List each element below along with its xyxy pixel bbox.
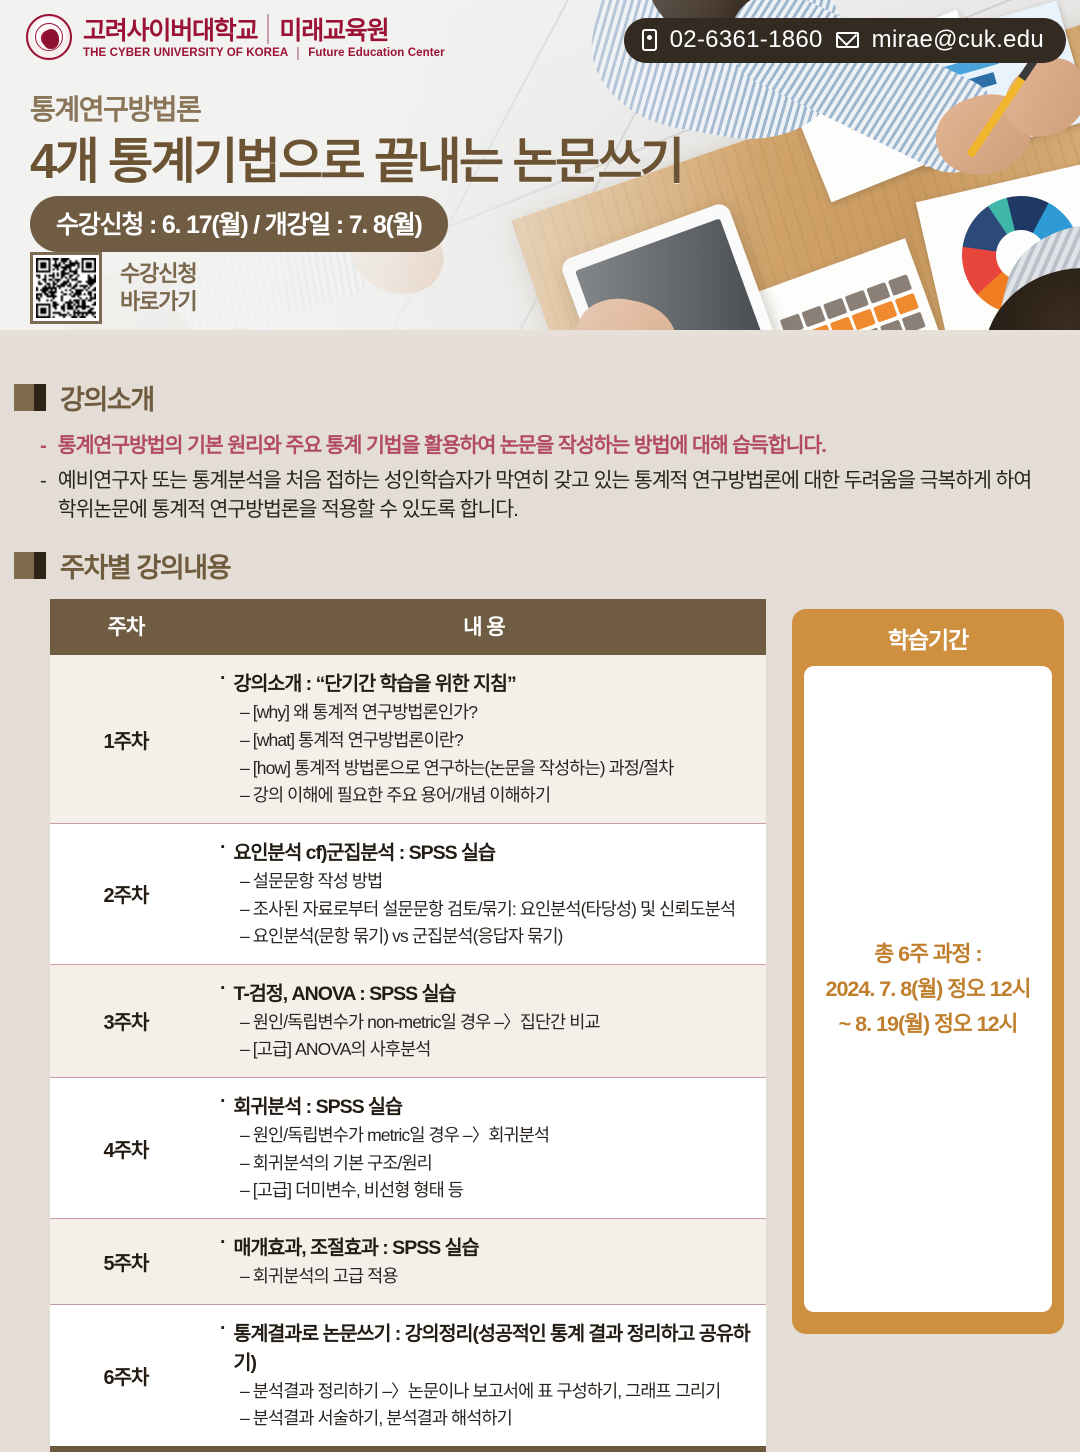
study-period-box: 총 6주 과정 : 2024. 7. 8(월) 정오 12시 ~ 8. 19(월… <box>804 666 1052 1312</box>
topic-title: ·회귀분석 : SPSS 실습 <box>220 1090 756 1119</box>
intro-item: - 예비연구자 또는 통계분석을 처음 접하는 성인학습자가 막연히 갖고 있는… <box>40 466 1050 524</box>
topic-subitem: – 회귀분석의 고급 적용 <box>220 1263 756 1291</box>
bullet-dot-icon: · <box>220 977 226 1006</box>
study-period-line: 2024. 7. 8(월) 정오 12시 <box>826 972 1031 1007</box>
table-row: 3주차·T-검정, ANOVA : SPSS 실습– 원인/독립변수가 non-… <box>50 964 766 1077</box>
study-period-line: ~ 8. 19(월) 정오 12시 <box>826 1007 1031 1042</box>
qr-code-icon[interactable] <box>30 252 102 324</box>
topic-subitem: – 설문문항 작성 방법 <box>220 868 756 896</box>
topic-subitem: – 요인분석(문항 묶기) vs 군집분석(응답자 묶기) <box>220 923 756 951</box>
cell-week: 1주차 <box>50 655 202 823</box>
brand-center-en: Future Education Center <box>308 48 444 60</box>
section-title-curriculum: 주차별 강의내용 <box>60 546 230 585</box>
qr-label-line1: 수강신청 <box>120 260 197 288</box>
intro-list: - 통계연구방법의 기본 원리와 주요 통계 기법을 활용하여 논문을 작성하는… <box>40 431 1050 524</box>
topic-subitem: – 분석결과 정리하기 –〉논문이나 보고서에 표 구성하기, 그래프 그리기 <box>220 1378 756 1406</box>
topic-title: ·T-검정, ANOVA : SPSS 실습 <box>220 977 756 1006</box>
cell-content: ·요인분석 cf)군집분석 : SPSS 실습– 설문문항 작성 방법– 조사된… <box>202 823 766 964</box>
study-period-title: 학습기간 <box>804 609 1052 666</box>
column-header-content: 내 용 <box>202 599 766 655</box>
topic-subitem: – [고급] ANOVA의 사후분석 <box>220 1036 756 1064</box>
cell-content: ·통계결과로 논문쓰기 : 강의정리(성공적인 통계 결과 정리하고 공유하기)… <box>202 1304 766 1449</box>
curriculum-area: 주차 내 용 1주차·강의소개 : “단기간 학습을 위한 지침”– [why]… <box>0 599 1080 1452</box>
topic-subitem: – [why] 왜 통계적 연구방법론인가? <box>220 699 756 727</box>
topic-title: ·강의소개 : “단기간 학습을 위한 지침” <box>220 667 756 696</box>
topic-subitem: – 원인/독립변수가 non-metric일 경우 –〉집단간 비교 <box>220 1009 756 1037</box>
contact-bar: 02-6361-1860 mirae@cuk.edu <box>624 18 1066 63</box>
brand-logo: 고려사이버대학교 미래교육원 THE CYBER UNIVERSITY OF K… <box>26 14 445 60</box>
topic-text: 회귀분석 : SPSS 실습 <box>234 1090 402 1119</box>
column-header-week: 주차 <box>50 599 202 655</box>
section-title-intro: 강의소개 <box>60 378 154 417</box>
intro-item-text: 통계연구방법의 기본 원리와 주요 통계 기법을 활용하여 논문을 작성하는 방… <box>58 431 826 460</box>
bullet-dot-icon: · <box>220 1090 226 1119</box>
hero-bottom-fade <box>0 330 1080 356</box>
topic-subitem: – 조사된 자료로부터 설문문항 검토/묶기: 요인분석(타당성) 및 신뢰도분… <box>220 896 756 924</box>
mail-icon <box>836 32 859 48</box>
cell-week: 3주차 <box>50 964 202 1077</box>
topic-subitem: – [what] 통계적 연구방법론이란? <box>220 727 756 755</box>
bullet-dot-icon: · <box>220 667 226 696</box>
cell-content: ·강의소개 : “단기간 학습을 위한 지침”– [why] 왜 통계적 연구방… <box>202 655 766 823</box>
cell-content: ·회귀분석 : SPSS 실습– 원인/독립변수가 metric일 경우 –〉회… <box>202 1078 766 1219</box>
topic-title: ·요인분석 cf)군집분석 : SPSS 실습 <box>220 836 756 865</box>
enrollment-date-badge: 수강신청 : 6. 17(월) / 개강일 : 7. 8(월) <box>30 196 448 252</box>
cell-week: 4주차 <box>50 1078 202 1219</box>
qr-apply-block[interactable]: 수강신청 바로가기 <box>30 252 197 324</box>
qr-label-line2: 바로가기 <box>120 288 197 316</box>
topic-subitem: – 분석결과 서술하기, 분석결과 해석하기 <box>220 1405 756 1433</box>
topic-text: 강의소개 : “단기간 학습을 위한 지침” <box>234 667 516 696</box>
bullet-dash-icon: - <box>40 466 46 524</box>
study-period-card: 학습기간 총 6주 과정 : 2024. 7. 8(월) 정오 12시 ~ 8.… <box>792 609 1064 1334</box>
bullet-dot-icon: · <box>220 836 226 865</box>
topic-text: T-검정, ANOVA : SPSS 실습 <box>234 977 456 1006</box>
curriculum-table: 주차 내 용 1주차·강의소개 : “단기간 학습을 위한 지침”– [why]… <box>50 599 766 1452</box>
topic-subitem: – 강의 이해에 필요한 주요 용어/개념 이해하기 <box>220 782 756 810</box>
topic-subitem: – [how] 통계적 방법론으로 연구하는(논문을 작성하는) 과정/절차 <box>220 755 756 783</box>
brand-center-kr: 미래교육원 <box>279 19 388 44</box>
topic-text: 매개효과, 조절효과 : SPSS 실습 <box>234 1231 479 1260</box>
topic-subitem: – [고급] 더미변수, 비선형 형태 등 <box>220 1177 756 1205</box>
brand-name-kr: 고려사이버대학교 <box>83 19 257 44</box>
bullet-dot-icon: · <box>220 1317 226 1375</box>
topic-text: 요인분석 cf)군집분석 : SPSS 실습 <box>234 836 495 865</box>
university-crest-icon <box>26 14 72 60</box>
cell-content: ·매개효과, 조절효과 : SPSS 실습– 회귀분석의 고급 적용 <box>202 1219 766 1305</box>
table-row: 4주차·회귀분석 : SPSS 실습– 원인/독립변수가 metric일 경우 … <box>50 1078 766 1219</box>
main-content: 강의소개 - 통계연구방법의 기본 원리와 주요 통계 기법을 활용하여 논문을… <box>0 378 1080 1452</box>
bullet-dot-icon: · <box>220 1231 226 1260</box>
table-row: 6주차·통계결과로 논문쓰기 : 강의정리(성공적인 통계 결과 정리하고 공유… <box>50 1304 766 1449</box>
section-marker-icon <box>14 552 46 579</box>
brand-divider <box>297 47 299 60</box>
intro-item: - 통계연구방법의 기본 원리와 주요 통계 기법을 활용하여 논문을 작성하는… <box>40 431 1050 460</box>
phone-icon <box>642 29 657 51</box>
table-row: 1주차·강의소개 : “단기간 학습을 위한 지침”– [why] 왜 통계적 … <box>50 655 766 823</box>
topic-text: 통계결과로 논문쓰기 : 강의정리(성공적인 통계 결과 정리하고 공유하기) <box>234 1317 757 1375</box>
cell-week: 2주차 <box>50 823 202 964</box>
topic-subitem: – 원인/독립변수가 metric일 경우 –〉회귀분석 <box>220 1122 756 1150</box>
cell-content: ·T-검정, ANOVA : SPSS 실습– 원인/독립변수가 non-met… <box>202 964 766 1077</box>
section-header-intro: 강의소개 <box>14 378 1080 417</box>
table-row: 2주차·요인분석 cf)군집분석 : SPSS 실습– 설문문항 작성 방법– … <box>50 823 766 964</box>
bullet-dash-icon: - <box>40 431 46 460</box>
table-header-row: 주차 내 용 <box>50 599 766 655</box>
brand-divider <box>267 14 269 44</box>
topic-subitem: – 회귀분석의 기본 구조/원리 <box>220 1150 756 1178</box>
intro-item-text: 예비연구자 또는 통계분석을 처음 접하는 성인학습자가 막연히 갖고 있는 통… <box>58 466 1050 524</box>
email-address[interactable]: mirae@cuk.edu <box>872 26 1044 54</box>
table-row: 5주차·매개효과, 조절효과 : SPSS 실습– 회귀분석의 고급 적용 <box>50 1219 766 1305</box>
phone-number[interactable]: 02-6361-1860 <box>670 26 823 54</box>
study-period-line: 총 6주 과정 : <box>826 937 1031 972</box>
hero-banner: 고려사이버대학교 미래교육원 THE CYBER UNIVERSITY OF K… <box>0 0 1080 356</box>
section-header-curriculum: 주차별 강의내용 <box>14 546 1080 585</box>
topic-title: ·매개효과, 조절효과 : SPSS 실습 <box>220 1231 756 1260</box>
hero-title: 4개 통계기법으로 끝내는 논문쓰기 <box>30 122 682 193</box>
cell-week: 6주차 <box>50 1304 202 1449</box>
cell-week: 5주차 <box>50 1219 202 1305</box>
topic-title: ·통계결과로 논문쓰기 : 강의정리(성공적인 통계 결과 정리하고 공유하기) <box>220 1317 756 1375</box>
section-marker-icon <box>14 384 46 411</box>
table-body: 1주차·강의소개 : “단기간 학습을 위한 지침”– [why] 왜 통계적 … <box>50 655 766 1449</box>
brand-name-en: THE CYBER UNIVERSITY OF KOREA <box>83 48 288 60</box>
